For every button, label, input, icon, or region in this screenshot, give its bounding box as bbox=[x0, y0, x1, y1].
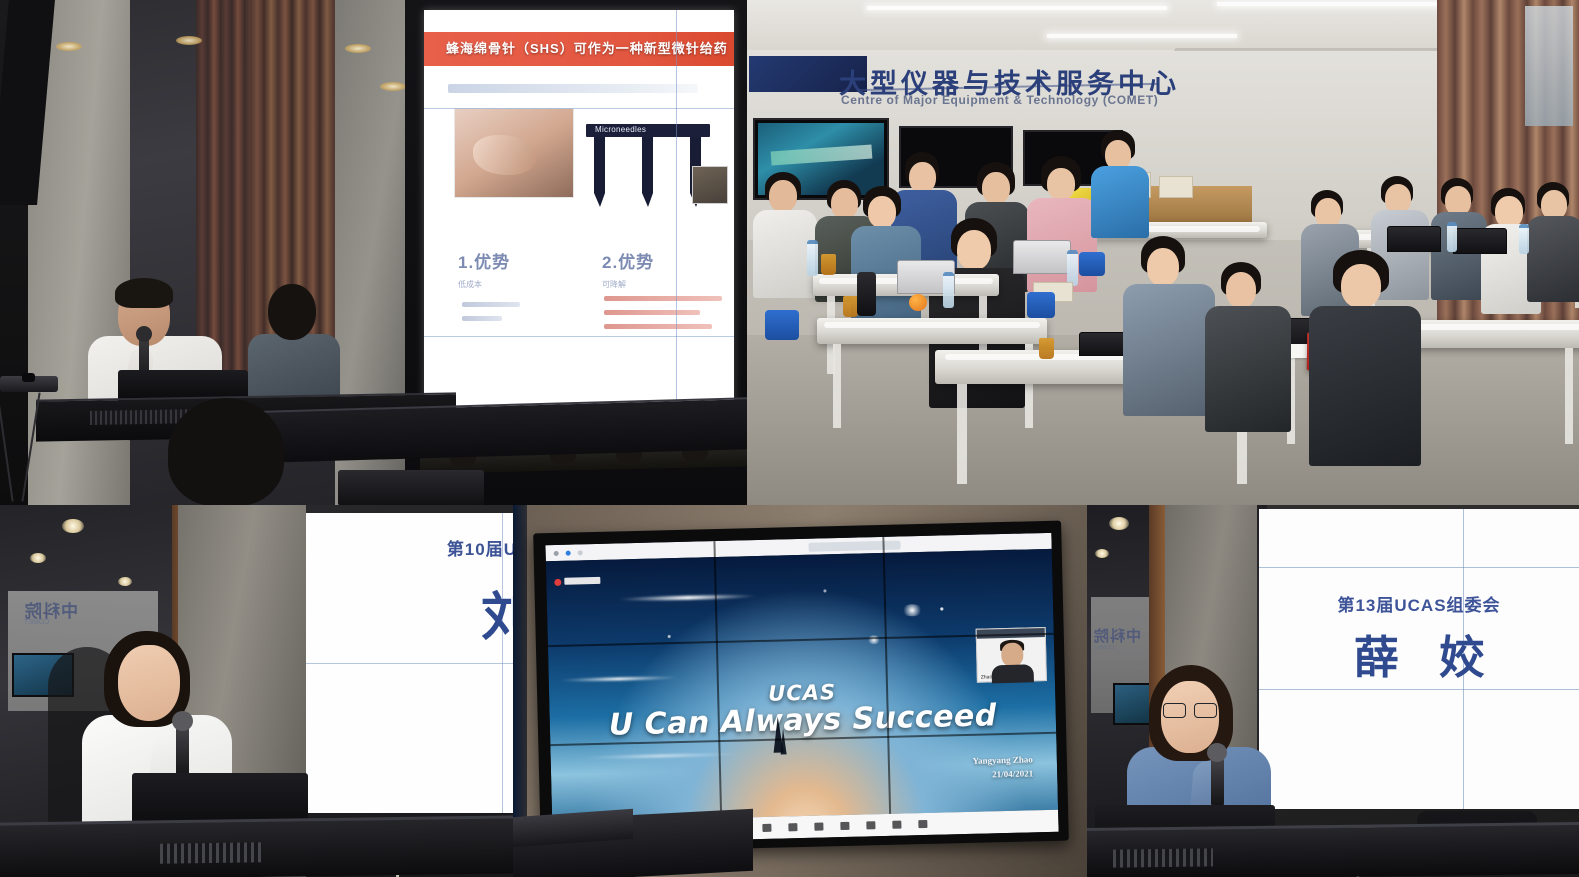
screen-seam-horizontal bbox=[424, 336, 734, 337]
slide-text-line bbox=[604, 296, 722, 301]
table-leg bbox=[1565, 348, 1573, 444]
thermos-flask bbox=[857, 272, 876, 316]
slide-photo bbox=[454, 108, 574, 198]
star-glow bbox=[901, 604, 923, 617]
sailboat-mast bbox=[780, 728, 787, 754]
tea-cup bbox=[821, 254, 836, 275]
light-streak bbox=[581, 752, 741, 759]
record-icon[interactable] bbox=[840, 822, 849, 830]
reflected-logo: 中科院 bbox=[1093, 625, 1141, 646]
screen-subtitle: 第13届UCAS组委会 bbox=[1259, 591, 1579, 616]
light-streak bbox=[559, 676, 679, 682]
panel-audience-room: 大型仪器与技术服务中心 Centre of Major Equipment & … bbox=[747, 0, 1579, 505]
screen-presenter-name: 薛 姣 bbox=[1259, 621, 1579, 686]
microneedle-leg bbox=[594, 137, 605, 193]
person-head bbox=[909, 162, 936, 193]
microphone-head-icon bbox=[136, 326, 152, 342]
panel-presenter-denim-shirt: 中科院 COMET 第13届UCAS组委会 薛 姣 bbox=[1087, 505, 1579, 877]
ceiling-light-icon bbox=[62, 519, 84, 533]
meeting-id-pill[interactable] bbox=[809, 541, 901, 552]
slide-date: 21/04/2021 bbox=[992, 768, 1033, 779]
person-head bbox=[1047, 168, 1075, 200]
person-head bbox=[769, 180, 797, 212]
window bbox=[1525, 6, 1573, 126]
screen-seam-horizontal bbox=[424, 108, 734, 109]
ceiling-light-icon bbox=[1109, 517, 1129, 530]
presentation-screen: 第10届U 刘 bbox=[306, 513, 513, 813]
apps-icon[interactable] bbox=[892, 821, 901, 829]
projection-slide: 蜂海绵骨针（SHS）可作为一种新型微针给药 Microneedles 1.优势 bbox=[424, 10, 734, 420]
wall-sign-english: Centre of Major Equipment & Technology (… bbox=[841, 93, 1158, 107]
podium-speaker-grill bbox=[1113, 848, 1213, 867]
person-head bbox=[868, 196, 896, 228]
person-head bbox=[982, 172, 1010, 204]
share-screen-icon[interactable] bbox=[814, 823, 823, 831]
stool bbox=[1027, 292, 1055, 318]
chat-icon[interactable] bbox=[788, 823, 797, 831]
reflected-logo-sub: COMET bbox=[1093, 645, 1115, 651]
presenter-face bbox=[118, 645, 180, 721]
cardboard-box bbox=[1159, 176, 1193, 198]
more-options-icon[interactable] bbox=[918, 820, 927, 828]
microphone-head-icon bbox=[172, 711, 193, 731]
recording-indicator-icon bbox=[554, 579, 561, 586]
window-dot-icon[interactable] bbox=[566, 551, 571, 556]
second-person-head bbox=[268, 284, 316, 340]
ceiling-lamp-icon bbox=[56, 42, 82, 51]
slide-column-1-heading: 1.优势 bbox=[458, 253, 510, 272]
slide-body: Microneedles 1.优势 低成本 2.优势 可降解 bbox=[424, 70, 734, 420]
reactions-icon[interactable] bbox=[866, 821, 875, 829]
reflected-logo-sub: COMET bbox=[24, 619, 49, 626]
participant-name: Zhao Yangyang bbox=[981, 674, 1016, 681]
participant-face bbox=[1001, 643, 1024, 668]
orange-fruit bbox=[909, 294, 927, 311]
screen-subtitle: 第10届U bbox=[447, 535, 513, 560]
water-bottle bbox=[1447, 222, 1457, 252]
slide-grid-line-vertical bbox=[676, 10, 677, 430]
person-torso bbox=[1527, 216, 1579, 302]
photo-collage: 蜂海绵骨针（SHS）可作为一种新型微针给药 Microneedles 1.优势 bbox=[0, 0, 1579, 877]
slide-column-1: 1.优势 低成本 bbox=[458, 248, 510, 290]
screen-seam-horizontal bbox=[306, 663, 513, 664]
panel-video-wall-meeting: UCAS U Can Always Succeed Yangyang Zhao … bbox=[513, 505, 1087, 877]
participants-icon[interactable] bbox=[762, 824, 771, 832]
ceiling-lamp-icon bbox=[345, 44, 371, 53]
person-torso bbox=[1091, 166, 1149, 238]
ceiling-light-icon bbox=[118, 577, 132, 586]
foreground-monitor bbox=[338, 470, 484, 505]
slide-banner-title: 蜂海绵骨针（SHS）可作为一种新型微针给药 bbox=[424, 32, 734, 66]
ceiling-light-strip bbox=[867, 6, 1167, 10]
microneedle-tip bbox=[642, 193, 653, 207]
window-dot-icon[interactable] bbox=[554, 551, 559, 556]
person-head bbox=[831, 188, 858, 219]
slide-text-line bbox=[604, 324, 712, 329]
presentation-screen: 第13届UCAS组委会 薛 姣 bbox=[1259, 509, 1579, 809]
ceiling-light-strip bbox=[1217, 2, 1447, 6]
ceiling-lamp-icon bbox=[380, 82, 406, 91]
table-leg bbox=[957, 384, 967, 484]
person-torso bbox=[1205, 306, 1291, 432]
person-head bbox=[957, 230, 991, 270]
person-head bbox=[1147, 248, 1179, 286]
water-bottle bbox=[807, 240, 818, 276]
microneedle-tip bbox=[594, 193, 605, 207]
laptop bbox=[1453, 228, 1507, 254]
person-head bbox=[1341, 264, 1381, 308]
ceiling-step-trim bbox=[1158, 48, 1475, 80]
microneedle-label: Microneedles bbox=[595, 125, 646, 134]
water-bottle bbox=[943, 272, 954, 308]
recording-label bbox=[564, 577, 600, 585]
screen-seam-horizontal bbox=[1259, 567, 1579, 568]
ceiling-light-icon bbox=[30, 553, 46, 563]
microphone-head-icon bbox=[1207, 743, 1227, 762]
slide-bullet-line bbox=[448, 84, 698, 93]
eyeglasses-icon bbox=[1163, 703, 1217, 716]
slide-text-line bbox=[462, 316, 502, 321]
slide-author: Yangyang Zhao bbox=[972, 754, 1033, 765]
slide-background: UCAS U Can Always Succeed Yangyang Zhao … bbox=[546, 549, 1058, 822]
slide-column-2-heading: 2.优势 bbox=[602, 253, 654, 272]
slide-text-line bbox=[462, 302, 520, 307]
screen-seam-horizontal bbox=[1259, 689, 1579, 690]
microneedle-leg bbox=[642, 137, 653, 193]
ceiling-light-strip bbox=[1047, 34, 1237, 38]
ceiling-lamp-icon bbox=[176, 36, 202, 45]
laptop bbox=[1013, 240, 1071, 274]
speaker-hair bbox=[115, 278, 173, 308]
table-mid-2 bbox=[817, 318, 1047, 344]
slide-text-line bbox=[604, 310, 700, 315]
slide-thumbnail bbox=[692, 166, 728, 204]
stool bbox=[1079, 252, 1105, 276]
camera-lens-icon bbox=[22, 373, 35, 382]
tea-cup bbox=[843, 296, 858, 317]
foreground-person-head bbox=[168, 398, 284, 505]
laptop bbox=[1387, 226, 1441, 252]
person-torso bbox=[1123, 284, 1215, 416]
light-streak bbox=[618, 594, 758, 601]
person-torso bbox=[1309, 306, 1421, 466]
video-wall-screen: UCAS U Can Always Succeed Yangyang Zhao … bbox=[545, 533, 1058, 844]
tea-cup bbox=[1039, 338, 1054, 359]
panel-speaker-at-podium: 蜂海绵骨针（SHS）可作为一种新型微针给药 Microneedles 1.优势 bbox=[0, 0, 747, 505]
water-bottle bbox=[1519, 224, 1529, 254]
slide-column-2: 2.优势 可降解 bbox=[602, 248, 654, 290]
slide-column-1-sub: 低成本 bbox=[458, 279, 510, 290]
stool bbox=[765, 310, 799, 340]
screen-presenter-name: 刘 bbox=[481, 575, 513, 650]
person-head bbox=[1226, 272, 1256, 308]
video-wall-bezel: UCAS U Can Always Succeed Yangyang Zhao … bbox=[533, 521, 1069, 854]
podium-speaker-grill bbox=[160, 842, 262, 863]
ceiling-light-icon bbox=[1095, 549, 1109, 558]
person-torso bbox=[1431, 212, 1487, 300]
slide-column-2-sub: 可降解 bbox=[602, 279, 654, 290]
panel-presenter-white-shirt: 中科院 COMET 第10届U 刘 bbox=[0, 505, 513, 877]
table-leg bbox=[833, 344, 841, 428]
window-dot-icon[interactable] bbox=[578, 550, 583, 555]
water-bottle bbox=[1067, 250, 1078, 286]
